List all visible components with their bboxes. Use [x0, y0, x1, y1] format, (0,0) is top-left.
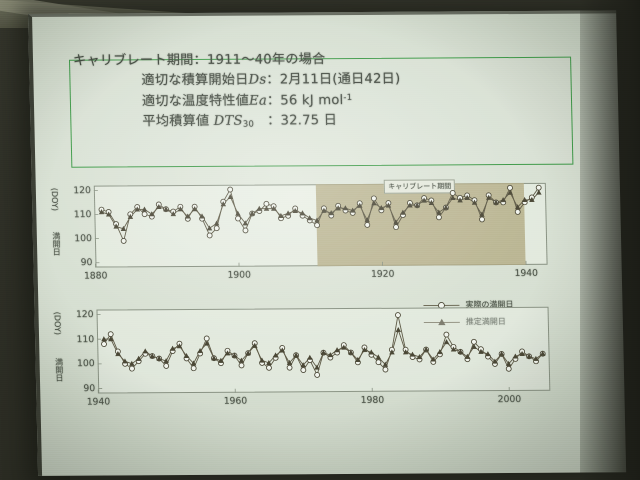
wall-right-shadow	[580, 0, 640, 480]
screen-frame	[28, 10, 626, 475]
projection-screen: キャリブレート期間：1911～40年の場合 適切な積算開始日Ds：2月11日(通…	[28, 10, 626, 475]
photo-scene: キャリブレート期間：1911～40年の場合 適切な積算開始日Ds：2月11日(通…	[0, 0, 640, 480]
